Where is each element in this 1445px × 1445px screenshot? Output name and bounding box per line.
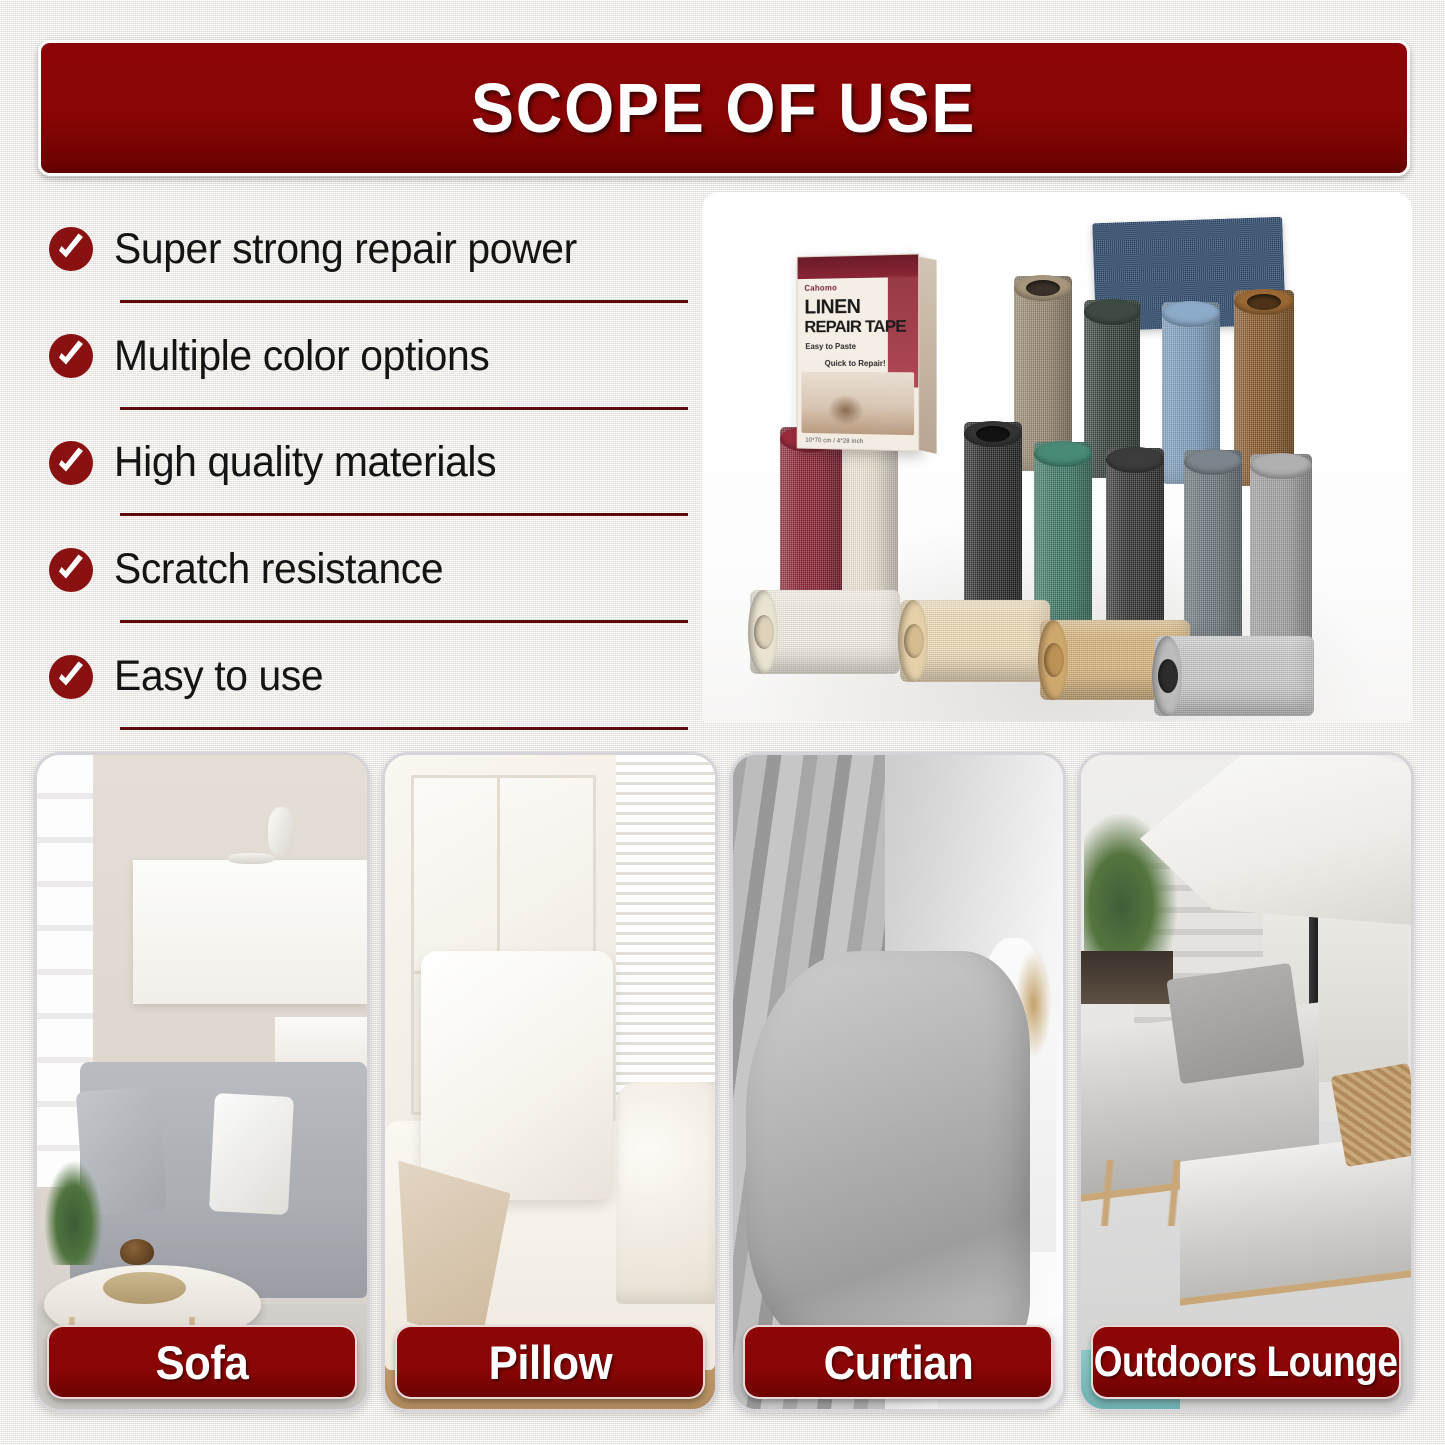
- feature-label: Multiple color options: [114, 332, 489, 381]
- shelf-decor: [275, 1017, 367, 1069]
- box-front-panel: Cahomo LINEN REPAIR TAPE Easy to Paste Q…: [797, 253, 920, 451]
- panel-label-text: Curtian: [823, 1335, 973, 1390]
- product-retail-box: Cahomo LINEN REPAIR TAPE Easy to Paste Q…: [797, 253, 920, 451]
- box-side-panel: [918, 257, 936, 454]
- brand-logo: Cahomo: [804, 283, 837, 292]
- tape-roll-red: [780, 427, 842, 612]
- use-case-panel-outdoors[interactable]: Outdoors Lounge: [1078, 752, 1414, 1412]
- pillow-photo: [385, 755, 715, 1409]
- page-title: SCOPE OF USE: [471, 68, 976, 148]
- lounge-cushion-2: [1331, 1063, 1414, 1167]
- soil-bed: [1081, 951, 1173, 1003]
- curtain-photo: [733, 755, 1063, 1409]
- panel-label-outdoors: Outdoors Lounge: [1091, 1325, 1401, 1399]
- tape-roll-black: [964, 422, 1022, 622]
- feature-label: Easy to use: [114, 652, 323, 701]
- feature-label: Scratch resistance: [114, 545, 443, 594]
- box-tagline-1: Easy to Paste: [805, 342, 856, 351]
- throw-pillow: [421, 951, 612, 1200]
- feature-label: Super strong repair power: [114, 225, 577, 274]
- feature-divider: [120, 727, 688, 730]
- tape-roll-charcoal: [1106, 448, 1164, 634]
- draped-fabric: [746, 951, 1030, 1356]
- use-case-panels: Sofa Pillow Curtian: [34, 752, 1414, 1412]
- pinecone-decor: [120, 1239, 154, 1265]
- feature-item: High quality materials: [42, 410, 692, 517]
- panel-label-curtain: Curtian: [743, 1325, 1053, 1399]
- scope-of-use-banner: SCOPE OF USE: [38, 40, 1410, 176]
- cabinet-decor: [133, 860, 367, 1004]
- panel-label-text: Outdoors Lounge: [1094, 1338, 1398, 1387]
- tape-roll-slategray: [1184, 450, 1242, 640]
- use-case-panel-curtain[interactable]: Curtian: [730, 752, 1066, 1412]
- box-lifestyle-photo: [801, 372, 914, 435]
- product-photo: Cahomo LINEN REPAIR TAPE Easy to Paste Q…: [702, 192, 1412, 722]
- check-circle-icon: [48, 654, 94, 700]
- feature-list: Super strong repair power Multiple color…: [42, 196, 692, 730]
- check-circle-icon: [48, 440, 94, 486]
- bowl-decor: [228, 853, 274, 864]
- armchair-arm: [616, 1082, 718, 1304]
- tape-roll-lightgray: [1250, 454, 1312, 654]
- tape-roll-teal: [1034, 442, 1092, 626]
- box-tagline-2: Quick to Repair!: [825, 359, 886, 368]
- feature-label: High quality materials: [114, 438, 496, 487]
- white-cushion: [209, 1093, 294, 1215]
- feature-item: Scratch resistance: [42, 516, 692, 623]
- check-circle-icon: [48, 226, 94, 272]
- panel-label-text: Pillow: [488, 1335, 612, 1390]
- plant-decor: [44, 1160, 103, 1265]
- box-size-text: 10*70 cm / 4*28 inch: [805, 438, 863, 445]
- use-case-panel-pillow[interactable]: Pillow: [382, 752, 718, 1412]
- box-title-line2: REPAIR TAPE: [804, 318, 906, 336]
- check-circle-icon: [48, 333, 94, 379]
- panel-label-pillow: Pillow: [395, 1325, 705, 1399]
- feature-item: Super strong repair power: [42, 196, 692, 303]
- lounge-legs: [1088, 1160, 1306, 1225]
- outdoors-photo: [1081, 755, 1411, 1409]
- product-image-card: Cahomo LINEN REPAIR TAPE Easy to Paste Q…: [702, 192, 1412, 722]
- check-circle-icon: [48, 547, 94, 593]
- feature-item: Easy to use: [42, 623, 692, 730]
- box-title-line1: LINEN: [804, 297, 860, 318]
- tape-roll-silver-lying: [1154, 636, 1314, 716]
- vase-decor: [268, 807, 294, 855]
- tray-decor: [103, 1272, 186, 1305]
- lounge-cushion-1: [1167, 963, 1306, 1084]
- feature-item: Multiple color options: [42, 303, 692, 410]
- sofa-photo: [37, 755, 367, 1409]
- panel-label-sofa: Sofa: [47, 1325, 357, 1399]
- tape-roll-beige-lying: [900, 600, 1050, 682]
- tape-roll-ivory-lying: [750, 590, 900, 674]
- use-case-panel-sofa[interactable]: Sofa: [34, 752, 370, 1412]
- panel-label-text: Sofa: [156, 1335, 249, 1390]
